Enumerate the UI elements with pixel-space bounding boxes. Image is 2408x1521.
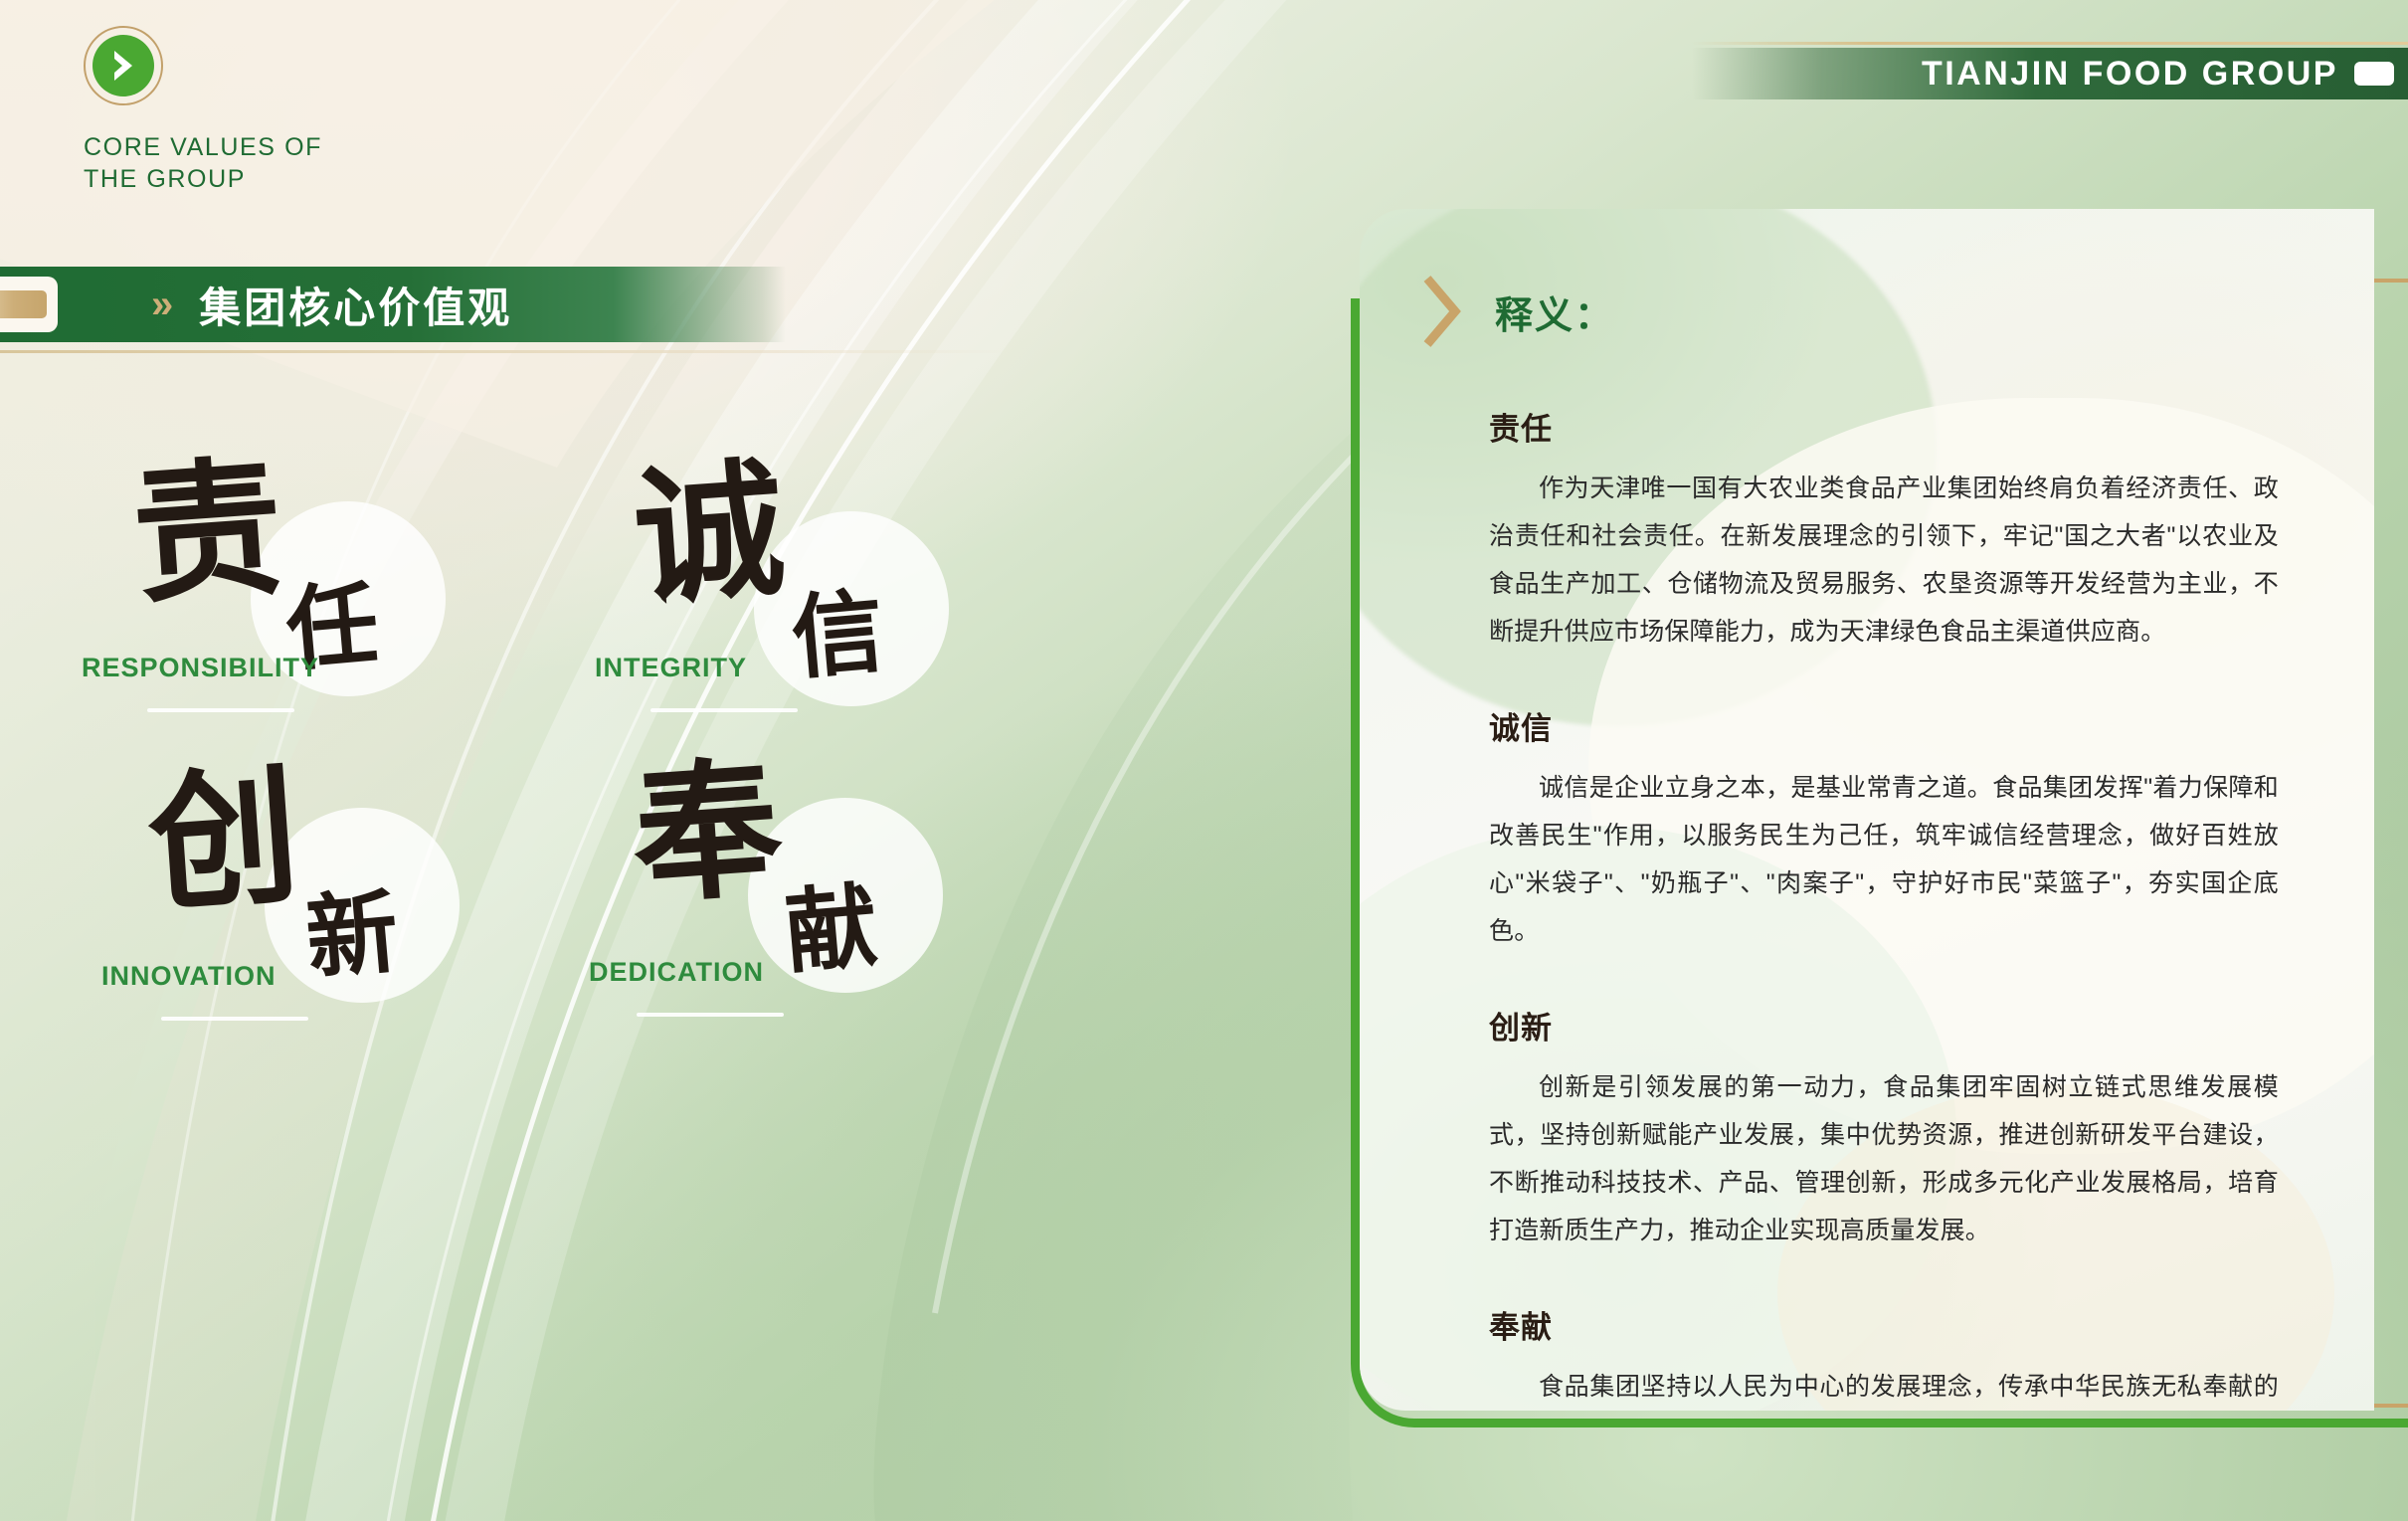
explanation-panel-content: 释义： 责任 作为天津唯一国有大农业类食品产业集团始终肩负着经济责任、政治责任和… [1360,209,2374,1411]
explanation-panel-wrapper: 释义： 责任 作为天津唯一国有大农业类食品产业集团始终肩负着经济责任、政治责任和… [1351,298,2408,1482]
company-brand-band: TIANJIN FOOD GROUP [1692,48,2408,99]
value-card-innovation: 创 新 INNOVATION [139,766,567,1064]
explanation-section-innovation: 创新 创新是引领发展的第一动力，食品集团牢固树立链式思维发展模式，坚持创新赋能产… [1421,1003,2279,1254]
value-label-en: INTEGRITY [595,653,747,683]
banner-chevron-icon: » [151,283,163,327]
explanation-title: 释义： [1495,285,1614,339]
value-rule [650,708,798,712]
explanation-header: 释义： [1421,275,2279,348]
explanation-section-dedication: 奉献 食品集团坚持以人民为中心的发展理念，传承中华民族无私奉献的精神，以国计民生… [1421,1302,2279,1411]
brand-logo-block: CORE VALUES OF THE GROUP [84,26,412,195]
section-title: 奉献 [1489,1302,2279,1347]
value-char-secondary: 献 [782,879,881,979]
section-title: 诚信 [1489,703,2279,748]
value-char-primary: 创 [144,761,303,920]
value-char-secondary: 信 [788,585,887,684]
poster-canvas: CORE VALUES OF THE GROUP TIANJIN FOOD GR… [0,0,2408,1521]
section-title: 创新 [1489,1003,2279,1047]
banner-underline [0,350,1010,353]
value-card-dedication: 奉 献 DEDICATION [597,766,1024,1064]
chevron-right-circle-icon [84,26,163,105]
chevron-right-icon [1421,275,1461,348]
value-char-primary: 责 [128,453,287,612]
value-char-primary: 奉 [628,753,787,912]
section-title-banner: » 集团核心价值观 [0,267,786,342]
value-char-secondary: 新 [302,885,402,985]
explanation-section-integrity: 诚信 诚信是企业立身之本，是基业常青之道。食品集团发挥"着力保障和改善民生"作用… [1421,703,2279,955]
page-title: 集团核心价值观 [199,275,512,335]
banner-tab-decoration [0,277,58,332]
explanation-section-responsibility: 责任 作为天津唯一国有大农业类食品产业集团始终肩负着经济责任、政治责任和社会责任… [1421,404,2279,656]
value-rule [637,1013,784,1017]
value-label-en: INNOVATION [101,961,277,992]
value-label-en: DEDICATION [589,957,764,988]
brand-chip-icon [2354,62,2394,86]
company-name: TIANJIN FOOD GROUP [1922,55,2338,94]
section-body: 食品集团坚持以人民为中心的发展理念，传承中华民族无私奉献的精神，以国计民生为己任… [1489,1363,2279,1411]
logo-caption: CORE VALUES OF THE GROUP [84,131,412,195]
value-card-responsibility: 责 任 RESPONSIBILITY [109,458,537,756]
value-rule [161,1017,308,1021]
value-rule [147,708,294,712]
section-body: 作为天津唯一国有大农业类食品产业集团始终肩负着经济责任、政治责任和社会责任。在新… [1489,465,2279,656]
banner-tab-gold-bar [0,290,47,318]
value-char-primary: 诚 [630,455,789,614]
core-values-group: 责 任 RESPONSIBILITY 诚 信 INTEGRITY 创 新 INN… [0,438,1054,1194]
logo-caption-line-1: CORE VALUES OF [84,131,412,163]
section-title: 责任 [1489,404,2279,449]
chevron-right-icon [107,49,139,83]
logo-caption-line-2: THE GROUP [84,163,412,195]
section-body: 创新是引领发展的第一动力，食品集团牢固树立链式思维发展模式，坚持创新赋能产业发展… [1489,1063,2279,1254]
explanation-panel: 释义： 责任 作为天津唯一国有大农业类食品产业集团始终肩负着经济责任、政治责任和… [1360,209,2374,1411]
value-label-en: RESPONSIBILITY [82,653,319,683]
value-card-integrity: 诚 信 INTEGRITY [607,438,1034,736]
brand-gold-rule [1692,42,2408,45]
section-body: 诚信是企业立身之本，是基业常青之道。食品集团发挥"着力保障和改善民生"作用，以服… [1489,764,2279,955]
